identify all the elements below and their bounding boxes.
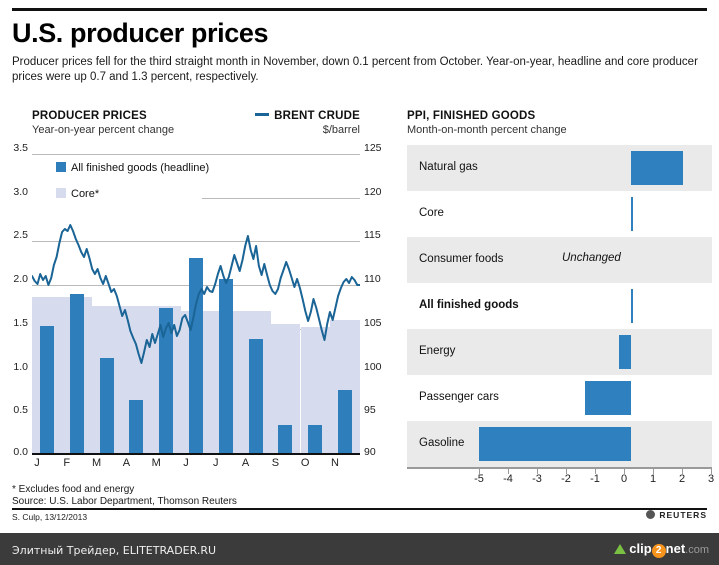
ytick-right-105: 105 — [364, 317, 394, 329]
clip2net-net: net — [666, 541, 686, 556]
banner-text: Элитный Трейдер, ELITETRADER.RU — [12, 544, 216, 557]
legend-core-label: Core* — [71, 188, 99, 200]
footer-rule — [12, 508, 707, 510]
row-label-gasoline: Gasoline — [419, 437, 464, 449]
ytick-left-3-0: 3.0 — [2, 186, 28, 198]
table-row: Gasoline — [407, 421, 712, 467]
legend-swatch-core-icon — [56, 188, 66, 198]
legend-headline: All finished goods (headline) — [56, 162, 209, 174]
rbar-natural-gas — [631, 151, 683, 185]
page-title: U.S. producer prices — [12, 18, 268, 49]
source-line: Source: U.S. Labor Department, Thomson R… — [12, 496, 237, 507]
ytick-right-120: 120 — [364, 186, 394, 198]
rx-lab-m5: -5 — [469, 473, 489, 485]
reuters-logo: REUTERS — [646, 510, 707, 520]
top-rule — [12, 8, 707, 11]
infographic-page: U.S. producer prices Producer prices fel… — [0, 0, 719, 565]
ytick-right-115: 115 — [364, 229, 394, 241]
xtick-a1: A — [113, 457, 139, 469]
brent-title: BRENT CRUDE — [220, 110, 360, 122]
clip2net-com: .com — [685, 544, 709, 556]
ppi-finished-goods-chart: Natural gas Core Consumer foods Unchange… — [400, 140, 712, 485]
left-panel-subtitle: Year-on-year percent change — [32, 124, 174, 136]
table-row: All finished goods — [407, 283, 712, 329]
ytick-right-95: 95 — [364, 404, 394, 416]
right-panel-title: PPI, FINISHED GOODS — [407, 110, 567, 122]
footnote: * Excludes food and energy — [12, 484, 134, 495]
table-row: Energy — [407, 329, 712, 375]
right-panel-subtitle: Month-on-month percent change — [407, 124, 567, 136]
xtick-o: O — [292, 457, 318, 469]
ytick-left-1-5: 1.5 — [2, 317, 28, 329]
right-x-axis — [407, 467, 712, 469]
brent-subtitle: $/barrel — [220, 124, 360, 136]
row-label-natural-gas: Natural gas — [419, 161, 478, 173]
ytick-left-0-5: 0.5 — [2, 404, 28, 416]
rx-lab-1: 1 — [643, 473, 663, 485]
rbar-all-finished-goods — [631, 289, 633, 323]
clip2net-two: 2 — [652, 544, 666, 558]
row-label-energy: Energy — [419, 345, 455, 357]
ytick-left-0-0: 0.0 — [2, 446, 28, 458]
table-row: Passenger cars — [407, 375, 712, 421]
ytick-right-125: 125 — [364, 142, 394, 154]
table-row: Consumer foods Unchanged — [407, 237, 712, 283]
brent-title-text: BRENT CRUDE — [274, 110, 360, 122]
ytick-left-3-5: 3.5 — [2, 142, 28, 154]
row-label-core: Core — [419, 207, 444, 219]
unchanged-annotation: Unchanged — [562, 252, 621, 264]
rx-lab-m2: -2 — [556, 473, 576, 485]
rx-lab-m3: -3 — [527, 473, 547, 485]
xtick-n: N — [322, 457, 348, 469]
reuters-label: REUTERS — [659, 510, 707, 520]
brent-heading: BRENT CRUDE $/barrel — [220, 110, 360, 136]
clip2net-logo[interactable]: clip2net.com — [614, 541, 709, 558]
ytick-right-110: 110 — [364, 273, 394, 285]
clip2net-clip: clip — [629, 541, 651, 556]
rbar-passenger-cars — [585, 381, 631, 415]
rx-lab-m1: -1 — [585, 473, 605, 485]
rx-lab-3: 3 — [701, 473, 719, 485]
xtick-m2: M — [143, 457, 169, 469]
rbar-gasoline — [479, 427, 631, 461]
rx-lab-2: 2 — [672, 473, 692, 485]
xtick-s: S — [262, 457, 288, 469]
rbar-core — [631, 197, 633, 231]
producer-prices-chart: 3.5 3.0 2.5 2.0 1.5 1.0 0.5 0.0 125 120 … — [0, 140, 395, 485]
ytick-right-90: 90 — [364, 446, 394, 458]
ytick-left-2-5: 2.5 — [2, 229, 28, 241]
reuters-dot-icon — [646, 510, 655, 519]
xtick-j1: J — [24, 457, 50, 469]
xtick-a2: A — [233, 457, 259, 469]
ytick-right-100: 100 — [364, 361, 394, 373]
row-label-consumer-foods: Consumer foods — [419, 253, 503, 265]
rx-lab-0: 0 — [614, 473, 634, 485]
legend-swatch-headline-icon — [56, 162, 66, 172]
rbar-energy — [619, 335, 631, 369]
brent-line-key-icon — [255, 113, 269, 116]
left-x-axis — [32, 453, 360, 455]
ytick-left-1-0: 1.0 — [2, 361, 28, 373]
left-panel-heading: PRODUCER PRICES Year-on-year percent cha… — [32, 110, 174, 136]
right-panel-heading: PPI, FINISHED GOODS Month-on-month perce… — [407, 110, 567, 136]
row-label-all-finished-goods: All finished goods — [419, 299, 519, 311]
xtick-j2: J — [173, 457, 199, 469]
left-panel-title: PRODUCER PRICES — [32, 110, 174, 122]
byline: S. Culp, 13/12/2013 — [12, 512, 87, 522]
ytick-left-2-0: 2.0 — [2, 273, 28, 285]
page-subtitle: Producer prices fell for the third strai… — [12, 55, 698, 85]
xtick-f: F — [54, 457, 80, 469]
xtick-m1: M — [84, 457, 110, 469]
row-label-passenger-cars: Passenger cars — [419, 391, 499, 403]
legend-headline-label: All finished goods (headline) — [71, 162, 209, 174]
xtick-j3: J — [203, 457, 229, 469]
up-arrow-icon — [614, 544, 626, 554]
table-row: Core — [407, 191, 712, 237]
rx-lab-m4: -4 — [498, 473, 518, 485]
legend-core: Core* — [56, 188, 99, 200]
table-row: Natural gas — [407, 145, 712, 191]
